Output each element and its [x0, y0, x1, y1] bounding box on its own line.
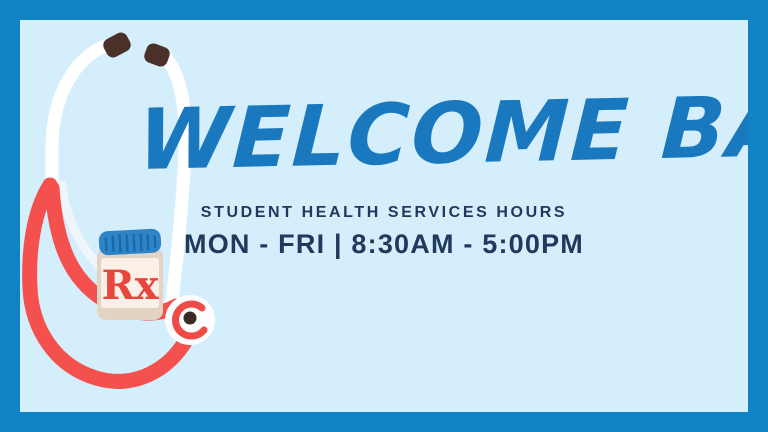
- welcome-back-poster: Rx WELCOME BACK! STUDENT HEALTH SERVICES…: [0, 0, 768, 432]
- page-title: WELCOME BACK!: [136, 85, 748, 182]
- hours-label: MON - FRI | 8:30AM - 5:00PM: [20, 229, 748, 260]
- poster-inner-canvas: Rx WELCOME BACK! STUDENT HEALTH SERVICES…: [20, 20, 748, 412]
- poster-text-block: WELCOME BACK! STUDENT HEALTH SERVICES HO…: [20, 20, 748, 412]
- services-label: STUDENT HEALTH SERVICES HOURS: [20, 204, 748, 222]
